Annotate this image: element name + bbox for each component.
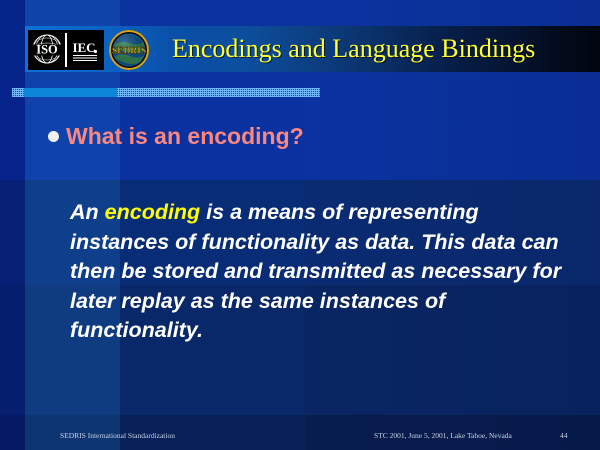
decorative-bar-highlight [24, 88, 117, 97]
body-paragraph: An encoding is a means of representing i… [70, 198, 582, 346]
svg-text:IEC: IEC [72, 40, 95, 55]
footer-page-number: 44 [560, 431, 568, 440]
bullet-dot-icon [48, 131, 59, 142]
svg-text:ISO: ISO [36, 43, 58, 57]
logo-divider [65, 33, 67, 67]
body-text-highlight: encoding [105, 200, 201, 224]
bullet-heading-row: What is an encoding? [48, 122, 304, 150]
presentation-slide: ISO IEC [0, 0, 600, 450]
iso-globe-icon: ISO [30, 32, 64, 68]
footer-left-text: SEDRIS International Standardization [60, 431, 175, 440]
background-column-left [0, 0, 25, 450]
iso-iec-logo: ISO IEC [28, 30, 104, 70]
logo-group: ISO IEC [28, 29, 150, 71]
body-text-before: An [70, 200, 105, 224]
bullet-heading-text: What is an encoding? [66, 122, 304, 150]
footer-right-text: STC 2001, June 5, 2001, Lake Tahoe, Neva… [374, 431, 512, 440]
iec-logo-icon: IEC [68, 32, 102, 68]
sedris-globe-icon: SEDRIS [108, 29, 150, 71]
slide-title: Encodings and Language Bindings [172, 28, 535, 70]
svg-text:SEDRIS: SEDRIS [112, 47, 146, 57]
